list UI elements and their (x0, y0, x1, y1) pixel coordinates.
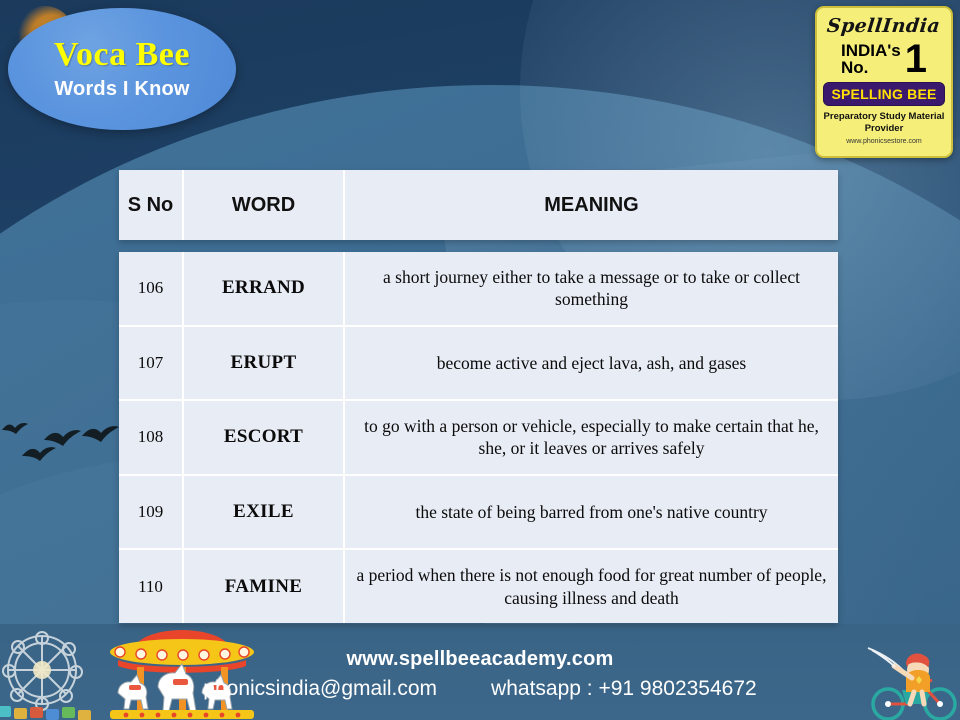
column-header-word: WORD (182, 170, 343, 240)
spellindia-rank-group: INDIA's No. 1 (822, 41, 946, 78)
cell-sno: 110 (119, 550, 182, 623)
cell-sno: 106 (119, 252, 182, 325)
voca-bee-logo: Voca Bee Words I Know (8, 8, 236, 130)
slide-canvas: Voca Bee Words I Know SpellIndia INDIA's… (0, 0, 960, 720)
spellindia-brand: SpellIndia (826, 15, 941, 37)
table-row: 107 ERUPT become active and eject lava, … (119, 325, 838, 400)
column-header-sno: S No (119, 170, 182, 240)
footer-whatsapp[interactable]: whatsapp : +91 9802354672 (491, 677, 757, 701)
spellindia-provider-text: Preparatory Study Material Provider (824, 111, 945, 135)
cell-sno: 107 (119, 327, 182, 400)
table-row: 110 FAMINE a period when there is not en… (119, 548, 838, 623)
spellindia-badge: SpellIndia INDIA's No. 1 SPELLING BEE Pr… (815, 6, 953, 158)
logo-subtitle: Words I Know (54, 78, 189, 101)
spellindia-provider-line2: Provider (824, 123, 945, 135)
table-header: S No WORD MEANING (119, 170, 838, 240)
cell-word: EXILE (182, 476, 343, 549)
cell-meaning: a short journey either to take a message… (343, 252, 838, 325)
cell-word: ERRAND (182, 252, 343, 325)
spellindia-url: www.phonicsestore.com (846, 138, 921, 145)
cell-meaning: a period when there is not enough food f… (343, 550, 838, 623)
table-row: 109 EXILE the state of being barred from… (119, 474, 838, 549)
logo-title: Voca Bee (54, 37, 190, 73)
footer: www.spellbeeacademy.com phonicsindia@gma… (0, 648, 960, 701)
spellindia-provider-line1: Preparatory Study Material (824, 111, 945, 123)
flying-birds-icon (0, 412, 130, 482)
cell-meaning: the state of being barred from one's nat… (343, 476, 838, 549)
footer-website[interactable]: www.spellbeeacademy.com (0, 648, 960, 671)
cell-meaning: become active and eject lava, ash, and g… (343, 327, 838, 400)
spellindia-rank-number: 1 (905, 41, 927, 78)
cell-meaning: to go with a person or vehicle, especial… (343, 401, 838, 474)
cell-word: ESCORT (182, 401, 343, 474)
column-header-meaning: MEANING (343, 170, 838, 240)
table-row: 108 ESCORT to go with a person or vehicl… (119, 399, 838, 474)
footer-email[interactable]: phonicsindia@gmail.com (203, 677, 437, 701)
cell-sno: 108 (119, 401, 182, 474)
footer-contact-row: phonicsindia@gmail.com whatsapp : +91 98… (0, 677, 960, 701)
spellindia-spelling-bee-bar: SPELLING BEE (823, 82, 945, 106)
spellindia-indias-label: INDIA's (841, 42, 901, 59)
cell-sno: 109 (119, 476, 182, 549)
vocabulary-table: 106 ERRAND a short journey either to tak… (119, 252, 838, 623)
cell-word: ERUPT (182, 327, 343, 400)
table-row: 106 ERRAND a short journey either to tak… (119, 252, 838, 325)
spellindia-no-label: No. (841, 59, 901, 76)
cell-word: FAMINE (182, 550, 343, 623)
